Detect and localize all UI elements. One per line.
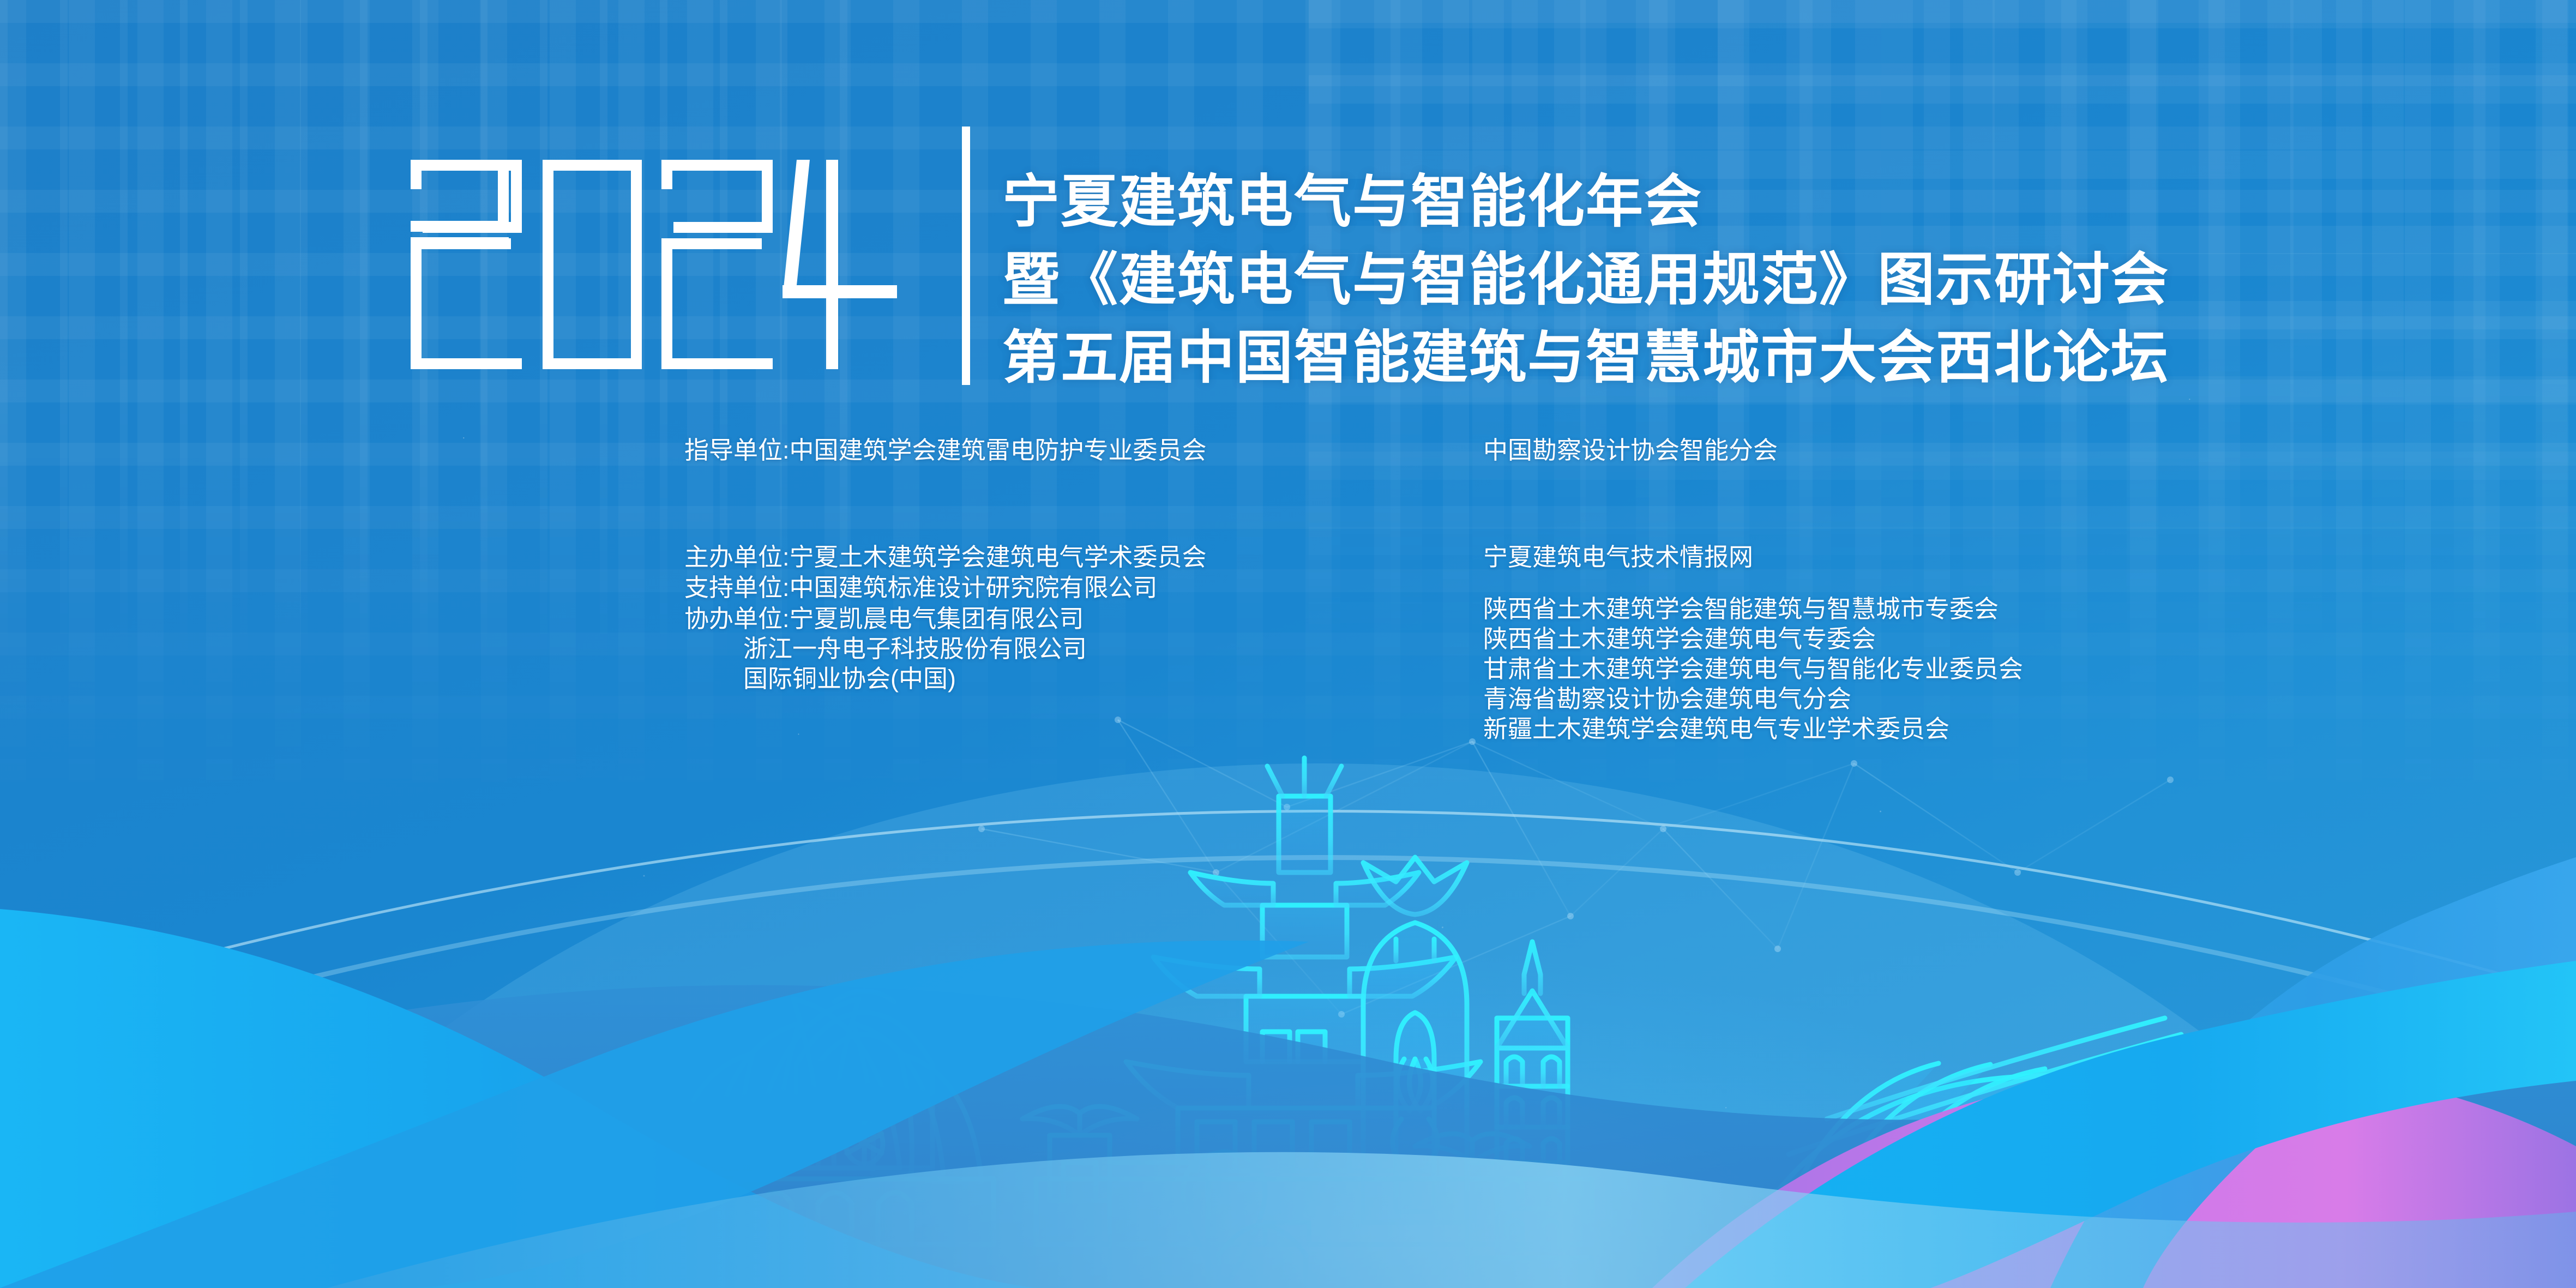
right-group-3-line-5: 新疆土木建筑学会建筑电气专业学术委员会	[1483, 714, 2023, 744]
guidance-unit-group: 指导单位:中国建筑学会建筑雷电防护专业委员会	[684, 435, 1207, 466]
banner-content: 宁夏建筑电气与智能化年会 暨《建筑电气与智能化通用规范》图示研讨会 第五届中国智…	[0, 0, 2576, 1288]
coorganizer-line-3: 国际铜业协会(中国)	[684, 664, 1087, 694]
host-unit-line-1: 主办单位:宁夏土木建筑学会建筑电气学术委员会	[684, 542, 1207, 573]
organizations-block: 指导单位:中国建筑学会建筑雷电防护专业委员会 主办单位:宁夏土木建筑学会建筑电气…	[0, 0, 2576, 1288]
support-unit-line-1: 支持单位:中国建筑标准设计研究院有限公司	[684, 573, 1207, 603]
right-group-3-line-2: 陕西省土木建筑学会建筑电气专委会	[1483, 624, 2023, 654]
right-group-1-line-1: 中国勘察设计协会智能分会	[1483, 435, 1778, 466]
right-group-3-line-3: 甘肃省土木建筑学会建筑电气与智能化专业委员会	[1483, 654, 2023, 684]
coorganizer-unit-group: 协办单位:宁夏凯晨电气集团有限公司 浙江一舟电子科技股份有限公司 国际铜业协会(…	[684, 604, 1087, 694]
coorganizer-line-1: 协办单位:宁夏凯晨电气集团有限公司	[684, 604, 1087, 634]
guidance-unit-line-1: 指导单位:中国建筑学会建筑雷电防护专业委员会	[684, 435, 1207, 466]
host-unit-group: 主办单位:宁夏土木建筑学会建筑电气学术委员会 支持单位:中国建筑标准设计研究院有…	[684, 492, 1207, 603]
right-group-3-line-1: 陕西省土木建筑学会智能建筑与智慧城市专委会	[1483, 594, 2023, 624]
right-group-1: 中国勘察设计协会智能分会	[1483, 435, 1778, 466]
right-group-2: 宁夏建筑电气技术情报网	[1483, 492, 1753, 573]
conference-banner: 宁夏建筑电气与智能化年会 暨《建筑电气与智能化通用规范》图示研讨会 第五届中国智…	[0, 0, 2576, 1288]
right-group-3: 陕西省土木建筑学会智能建筑与智慧城市专委会 陕西省土木建筑学会建筑电气专委会 甘…	[1483, 594, 2023, 744]
coorganizer-line-2: 浙江一舟电子科技股份有限公司	[684, 634, 1087, 664]
right-group-3-line-4: 青海省勘察设计协会建筑电气分会	[1483, 684, 2023, 714]
right-group-2-line-1: 宁夏建筑电气技术情报网	[1483, 542, 1753, 573]
